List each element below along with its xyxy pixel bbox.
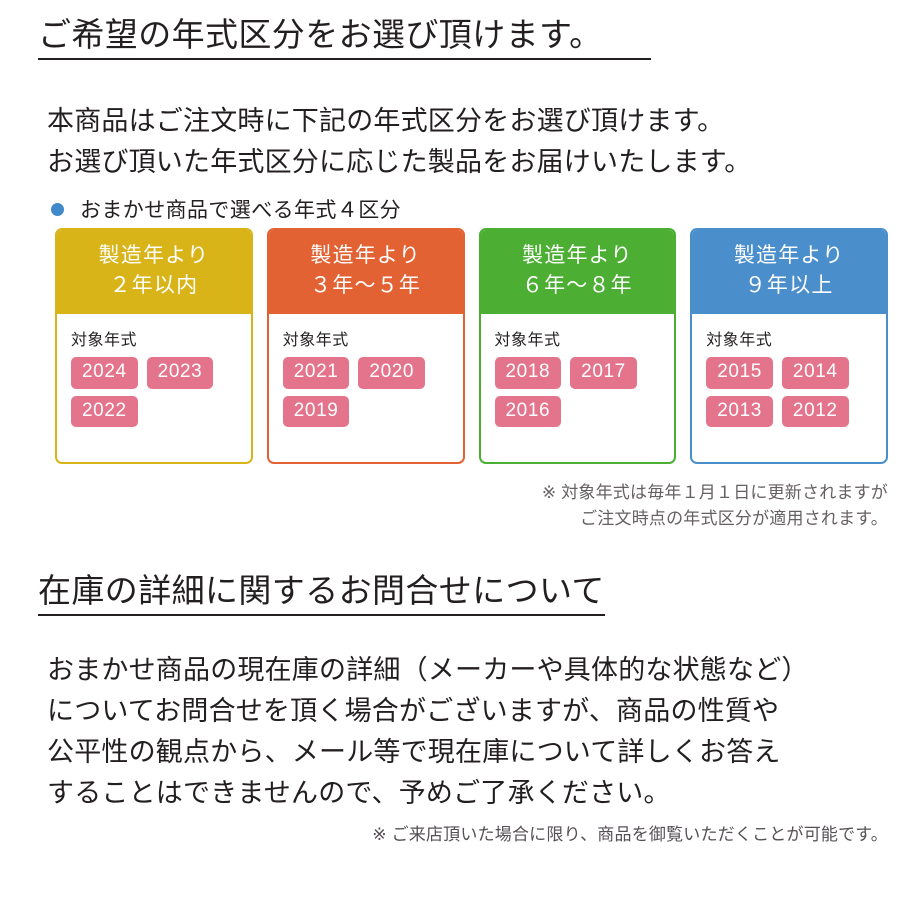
bullet-label: おまかせ商品で選べる年式４区分 (80, 194, 401, 224)
card-header: 製造年より ６年〜８年 (481, 230, 675, 314)
card-title-line2: ３年〜５年 (273, 271, 459, 301)
card-body: 対象年式 2015 2014 2013 2012 (692, 314, 886, 462)
year-chip: 2015 (706, 357, 773, 389)
year-chip-group: 2024 2023 2022 (71, 357, 243, 427)
section-1-paragraph: 本商品はご注文時に下記の年式区分をお選び頂けます。 お選び頂いた年式区分に応じた… (47, 101, 752, 183)
card-body-label: 対象年式 (283, 326, 463, 350)
section-title: 在庫の詳細に関するお問合せについて (38, 570, 605, 612)
bullet-row: おまかせ商品で選べる年式４区分 (51, 194, 401, 224)
paragraph-line: 公平性の観点から、メール等で現在庫について詳しくお答え (47, 732, 809, 773)
bullet-dot-icon (51, 203, 64, 216)
card-body: 対象年式 2021 2020 2019 (269, 314, 463, 462)
section-1-heading: ご希望の年式区分をお選び頂けます。 (11, 14, 651, 60)
year-chip-group: 2018 2017 2016 (495, 357, 667, 427)
card-title-line2: ９年以上 (696, 271, 882, 301)
year-chip: 2012 (782, 396, 849, 428)
year-chip: 2014 (782, 357, 849, 389)
year-chip: 2018 (495, 357, 562, 389)
year-chip: 2024 (71, 357, 138, 389)
paragraph-line: 本商品はご注文時に下記の年式区分をお選び頂けます。 (47, 101, 752, 142)
year-chip-group: 2015 2014 2013 2012 (706, 357, 878, 427)
card-title-line1: 製造年より (522, 244, 633, 267)
year-chip: 2013 (706, 396, 773, 428)
paragraph-line: についてお問合せを頂く場合がございますが、商品の性質や (47, 691, 809, 732)
card-title-line1: 製造年より (310, 244, 421, 267)
card-title-line2: ２年以内 (61, 271, 247, 301)
footnote-line: ご注文時点の年式区分が適用されます。 (400, 506, 888, 532)
card-body: 対象年式 2024 2023 2022 (57, 314, 251, 462)
year-category-card[interactable]: 製造年より ９年以上 対象年式 2015 2014 2013 2012 (690, 228, 888, 464)
year-category-card[interactable]: 製造年より ３年〜５年 対象年式 2021 2020 2019 (267, 228, 465, 464)
year-chip: 2016 (495, 396, 562, 428)
card-body-label: 対象年式 (71, 326, 251, 350)
year-chip: 2020 (358, 357, 425, 389)
year-chip: 2019 (283, 396, 350, 428)
year-chip: 2017 (570, 357, 637, 389)
year-category-card[interactable]: 製造年より ６年〜８年 対象年式 2018 2017 2016 (479, 228, 677, 464)
cards-footnote: ※ 対象年式は毎年１月１日に更新されますが ご注文時点の年式区分が適用されます。 (400, 480, 888, 533)
card-body: 対象年式 2018 2017 2016 (481, 314, 675, 462)
paragraph-line: お選び頂いた年式区分に応じた製品をお届けいたします。 (47, 142, 752, 183)
year-chip: 2021 (283, 357, 350, 389)
heading-underline (38, 58, 651, 60)
card-body-label: 対象年式 (495, 326, 675, 350)
card-title-line1: 製造年より (734, 244, 845, 267)
year-chip: 2022 (71, 396, 138, 428)
section-2-paragraph: おまかせ商品の現在庫の詳細（メーカーや具体的な状態など） についてお問合せを頂く… (47, 650, 809, 814)
card-title-line1: 製造年より (99, 244, 210, 267)
section-2-footnote: ※ ご来店頂いた場合に限り、商品を御覧いただくことが可能です。 (330, 822, 888, 848)
card-header: 製造年より ９年以上 (692, 230, 886, 314)
card-header: 製造年より ３年〜５年 (269, 230, 463, 314)
paragraph-line: することはできませんので、予めご了承ください。 (47, 773, 809, 814)
footnote-line: ※ 対象年式は毎年１月１日に更新されますが (400, 480, 888, 506)
section-2-heading: 在庫の詳細に関するお問合せについて (11, 570, 571, 616)
page-title: ご希望の年式区分をお選び頂けます。 (38, 14, 651, 56)
card-body-label: 対象年式 (706, 326, 886, 350)
card-header: 製造年より ２年以内 (57, 230, 251, 314)
heading-underline (38, 614, 605, 616)
paragraph-line: おまかせ商品の現在庫の詳細（メーカーや具体的な状態など） (47, 650, 809, 691)
card-title-line2: ６年〜８年 (485, 271, 671, 301)
year-chip-group: 2021 2020 2019 (283, 357, 455, 427)
footnote-line: ※ ご来店頂いた場合に限り、商品を御覧いただくことが可能です。 (330, 822, 888, 848)
year-chip: 2023 (147, 357, 214, 389)
year-category-card[interactable]: 製造年より ２年以内 対象年式 2024 2023 2022 (55, 228, 253, 464)
year-category-card-list: 製造年より ２年以内 対象年式 2024 2023 2022 製造年より ３年〜… (55, 228, 888, 464)
